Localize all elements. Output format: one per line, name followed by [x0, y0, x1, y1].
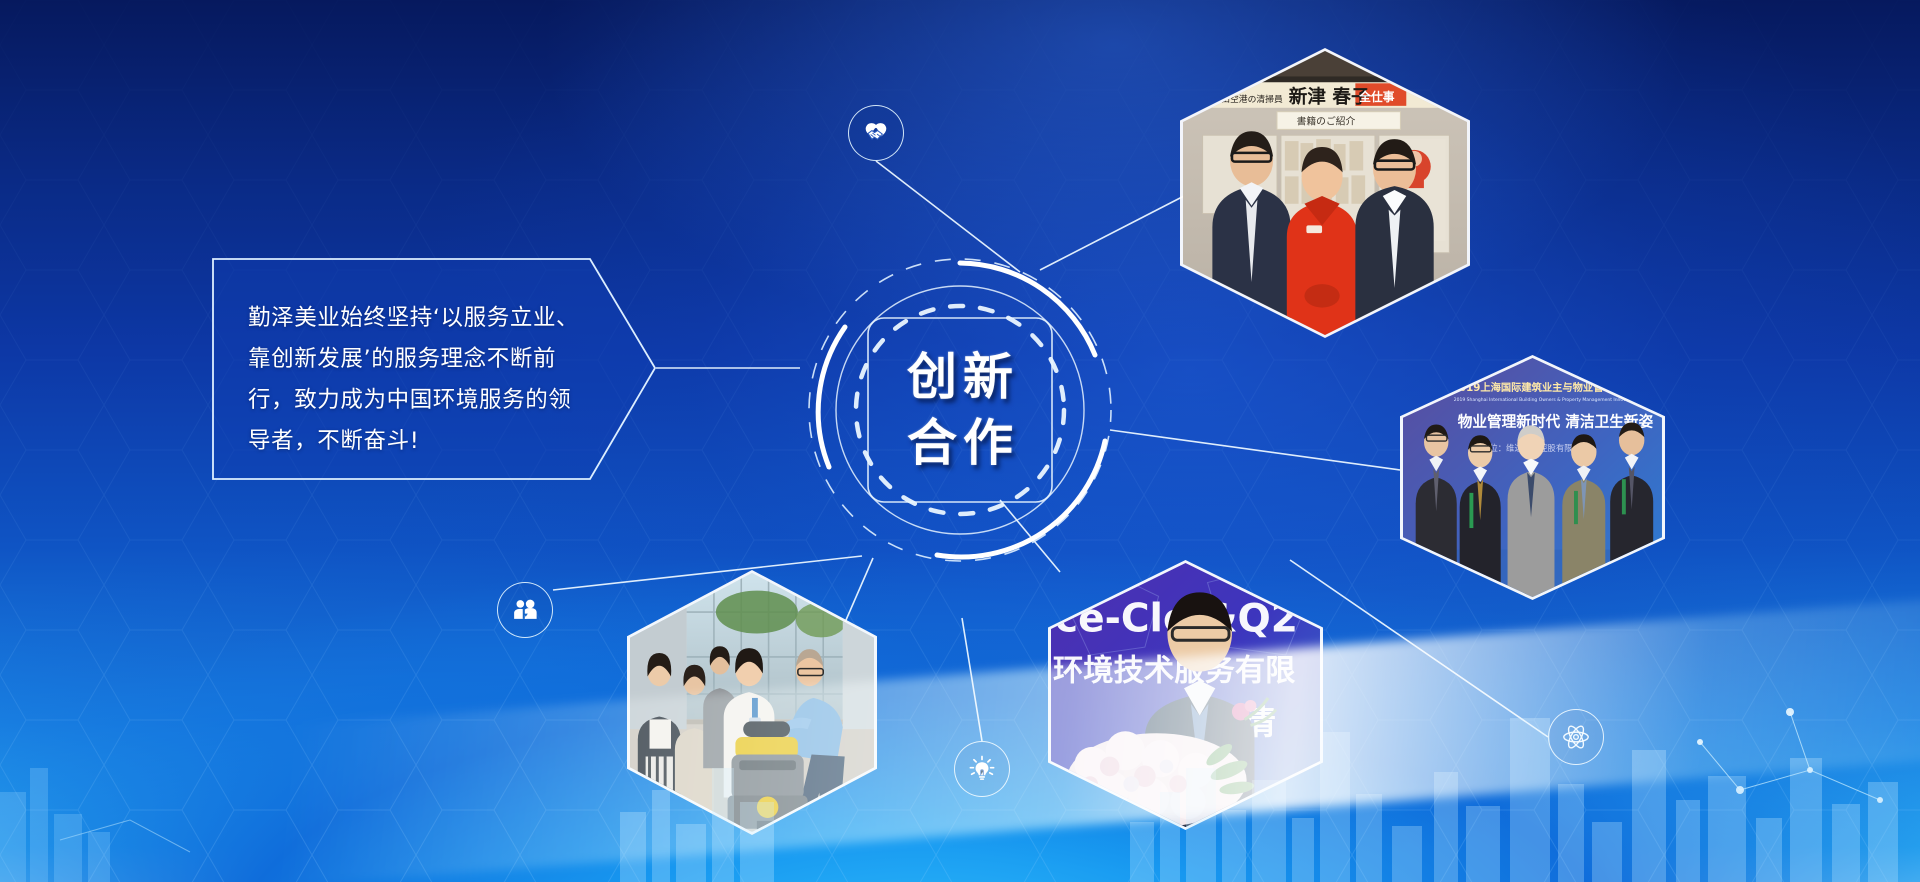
- handshake-heart-icon: [861, 118, 891, 148]
- svg-text:羽田空港の清掃員: 羽田空港の清掃員: [1212, 93, 1283, 105]
- two-people-icon: [510, 595, 540, 625]
- svg-text:書籍のご紹介: 書籍のご紹介: [1297, 114, 1356, 127]
- center-line-1: 创新: [907, 344, 1019, 410]
- svg-text:2019上海国际建筑业主与物业管理产业创新发: 2019上海国际建筑业主与物业管理产业创新发: [1452, 381, 1662, 394]
- center-line-2: 合作: [907, 410, 1019, 476]
- photo-three-people-bookstore[interactable]: 新津 春子 全仕事 羽田空港の清掃員 書籍のご紹介: [1180, 48, 1470, 338]
- center-hub[interactable]: 创新 合作: [805, 255, 1115, 565]
- photo-group-five-stage[interactable]: 2019上海国际建筑业主与物业管理产业创新发 2019 Shanghai Int…: [1400, 355, 1665, 600]
- svg-text:新津 春子: 新津 春子: [1289, 86, 1370, 108]
- svg-text:全仕事: 全仕事: [1358, 90, 1395, 104]
- photo-content: 2019上海国际建筑业主与物业管理产业创新发 2019 Shanghai Int…: [1403, 358, 1662, 597]
- hex-image-area: 2019上海国际建筑业主与物业管理产业创新发 2019 Shanghai Int…: [1403, 358, 1662, 597]
- node-handshake[interactable]: [848, 105, 904, 161]
- quote-text: 勤泽美业始终坚持‘以服务立业、靠创新发展’的服务理念不断前行，致力成为中国环境服…: [248, 298, 582, 462]
- photo-content: 新津 春子 全仕事 羽田空港の清掃員 書籍のご紹介: [1183, 51, 1467, 335]
- banner-stage: 勤泽美业始终坚持‘以服务立业、靠创新发展’的服务理念不断前行，致力成为中国环境服…: [0, 0, 1920, 882]
- city-skyline-silhouette: [0, 672, 1920, 882]
- hex-image-area: 新津 春子 全仕事 羽田空港の清掃員 書籍のご紹介: [1183, 51, 1467, 335]
- node-people[interactable]: [497, 582, 553, 638]
- center-label: 创新 合作: [805, 255, 1115, 565]
- quote-callout: 勤泽美业始终坚持‘以服务立业、靠创新发展’的服务理念不断前行，致力成为中国环境服…: [212, 258, 656, 480]
